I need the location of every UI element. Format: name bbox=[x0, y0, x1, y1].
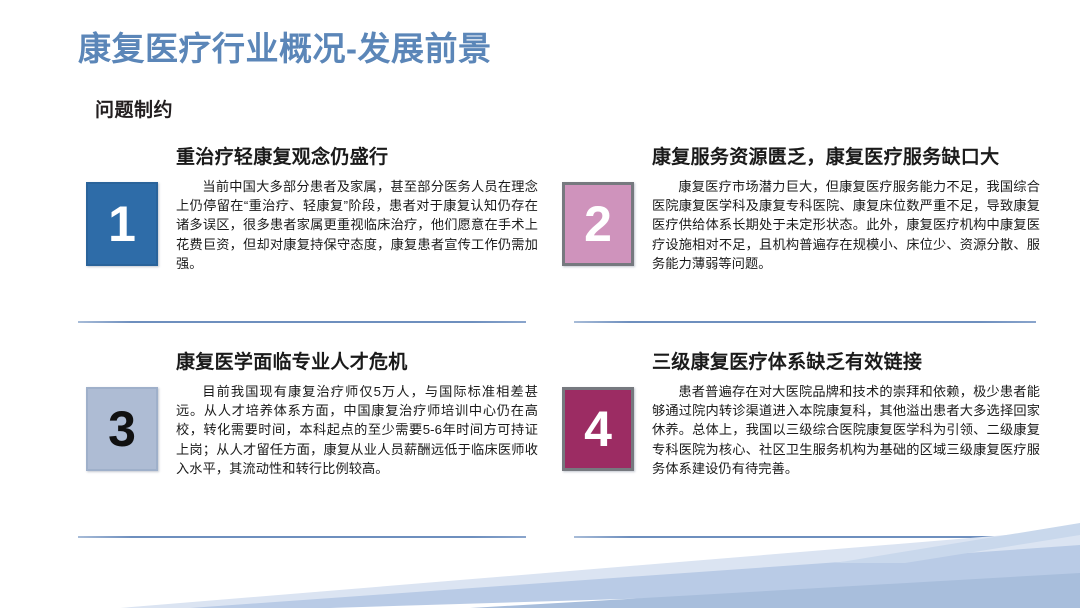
card-number-badge-4: 4 bbox=[562, 387, 634, 471]
content-card-2: 2 康复服务资源匮乏，康复医疗服务缺口大 康复医疗市场潜力巨大，但康复医疗服务能… bbox=[562, 146, 1040, 273]
content-card-3: 3 康复医学面临专业人才危机 目前我国现有康复治疗师仅5万人，与国际标准相差甚远… bbox=[86, 351, 538, 478]
card-number-badge-2: 2 bbox=[562, 182, 634, 266]
divider-right-lower bbox=[574, 536, 1036, 538]
slide-canvas: 康复医疗行业概况-发展前景 问题制约 1 重治疗轻康复观念仍盛行 当前中国大多部… bbox=[0, 0, 1080, 608]
divider-left-lower bbox=[78, 536, 526, 538]
card-text-4: 三级康复医疗体系缺乏有效链接 患者普遍存在对大医院品牌和技术的崇拜和依赖，极少患… bbox=[634, 351, 1040, 478]
page-title: 康复医疗行业概况-发展前景 bbox=[78, 31, 492, 67]
card-body-1: 当前中国大多部分患者及家属，甚至部分医务人员在理念上仍停留在“重治疗、轻康复”阶… bbox=[176, 177, 538, 273]
card-body-2: 康复医疗市场潜力巨大，但康复医疗服务能力不足，我国综合医院康复医学科及康复专科医… bbox=[652, 177, 1040, 273]
card-text-3: 康复医学面临专业人才危机 目前我国现有康复治疗师仅5万人，与国际标准相差甚远。从… bbox=[158, 351, 538, 478]
card-body-3: 目前我国现有康复治疗师仅5万人，与国际标准相差甚远。从人才培养体系方面，中国康复… bbox=[176, 382, 538, 478]
content-card-4: 4 三级康复医疗体系缺乏有效链接 患者普遍存在对大医院品牌和技术的崇拜和依赖，极… bbox=[562, 351, 1040, 478]
divider-right-upper bbox=[574, 321, 1036, 323]
card-text-2: 康复服务资源匮乏，康复医疗服务缺口大 康复医疗市场潜力巨大，但康复医疗服务能力不… bbox=[634, 146, 1040, 273]
card-number-badge-1: 1 bbox=[86, 182, 158, 266]
divider-left-upper bbox=[78, 321, 526, 323]
card-heading-3: 康复医学面临专业人才危机 bbox=[176, 351, 538, 375]
content-card-1: 1 重治疗轻康复观念仍盛行 当前中国大多部分患者及家属，甚至部分医务人员在理念上… bbox=[86, 146, 538, 273]
card-text-1: 重治疗轻康复观念仍盛行 当前中国大多部分患者及家属，甚至部分医务人员在理念上仍停… bbox=[158, 146, 538, 273]
card-heading-2: 康复服务资源匮乏，康复医疗服务缺口大 bbox=[652, 146, 1040, 170]
card-number-badge-3: 3 bbox=[86, 387, 158, 471]
card-body-4: 患者普遍存在对大医院品牌和技术的崇拜和依赖，极少患者能够通过院内转诊渠道进入本院… bbox=[652, 382, 1040, 478]
card-heading-4: 三级康复医疗体系缺乏有效链接 bbox=[652, 351, 1040, 375]
card-heading-1: 重治疗轻康复观念仍盛行 bbox=[176, 146, 538, 170]
section-subtitle: 问题制约 bbox=[95, 95, 173, 122]
